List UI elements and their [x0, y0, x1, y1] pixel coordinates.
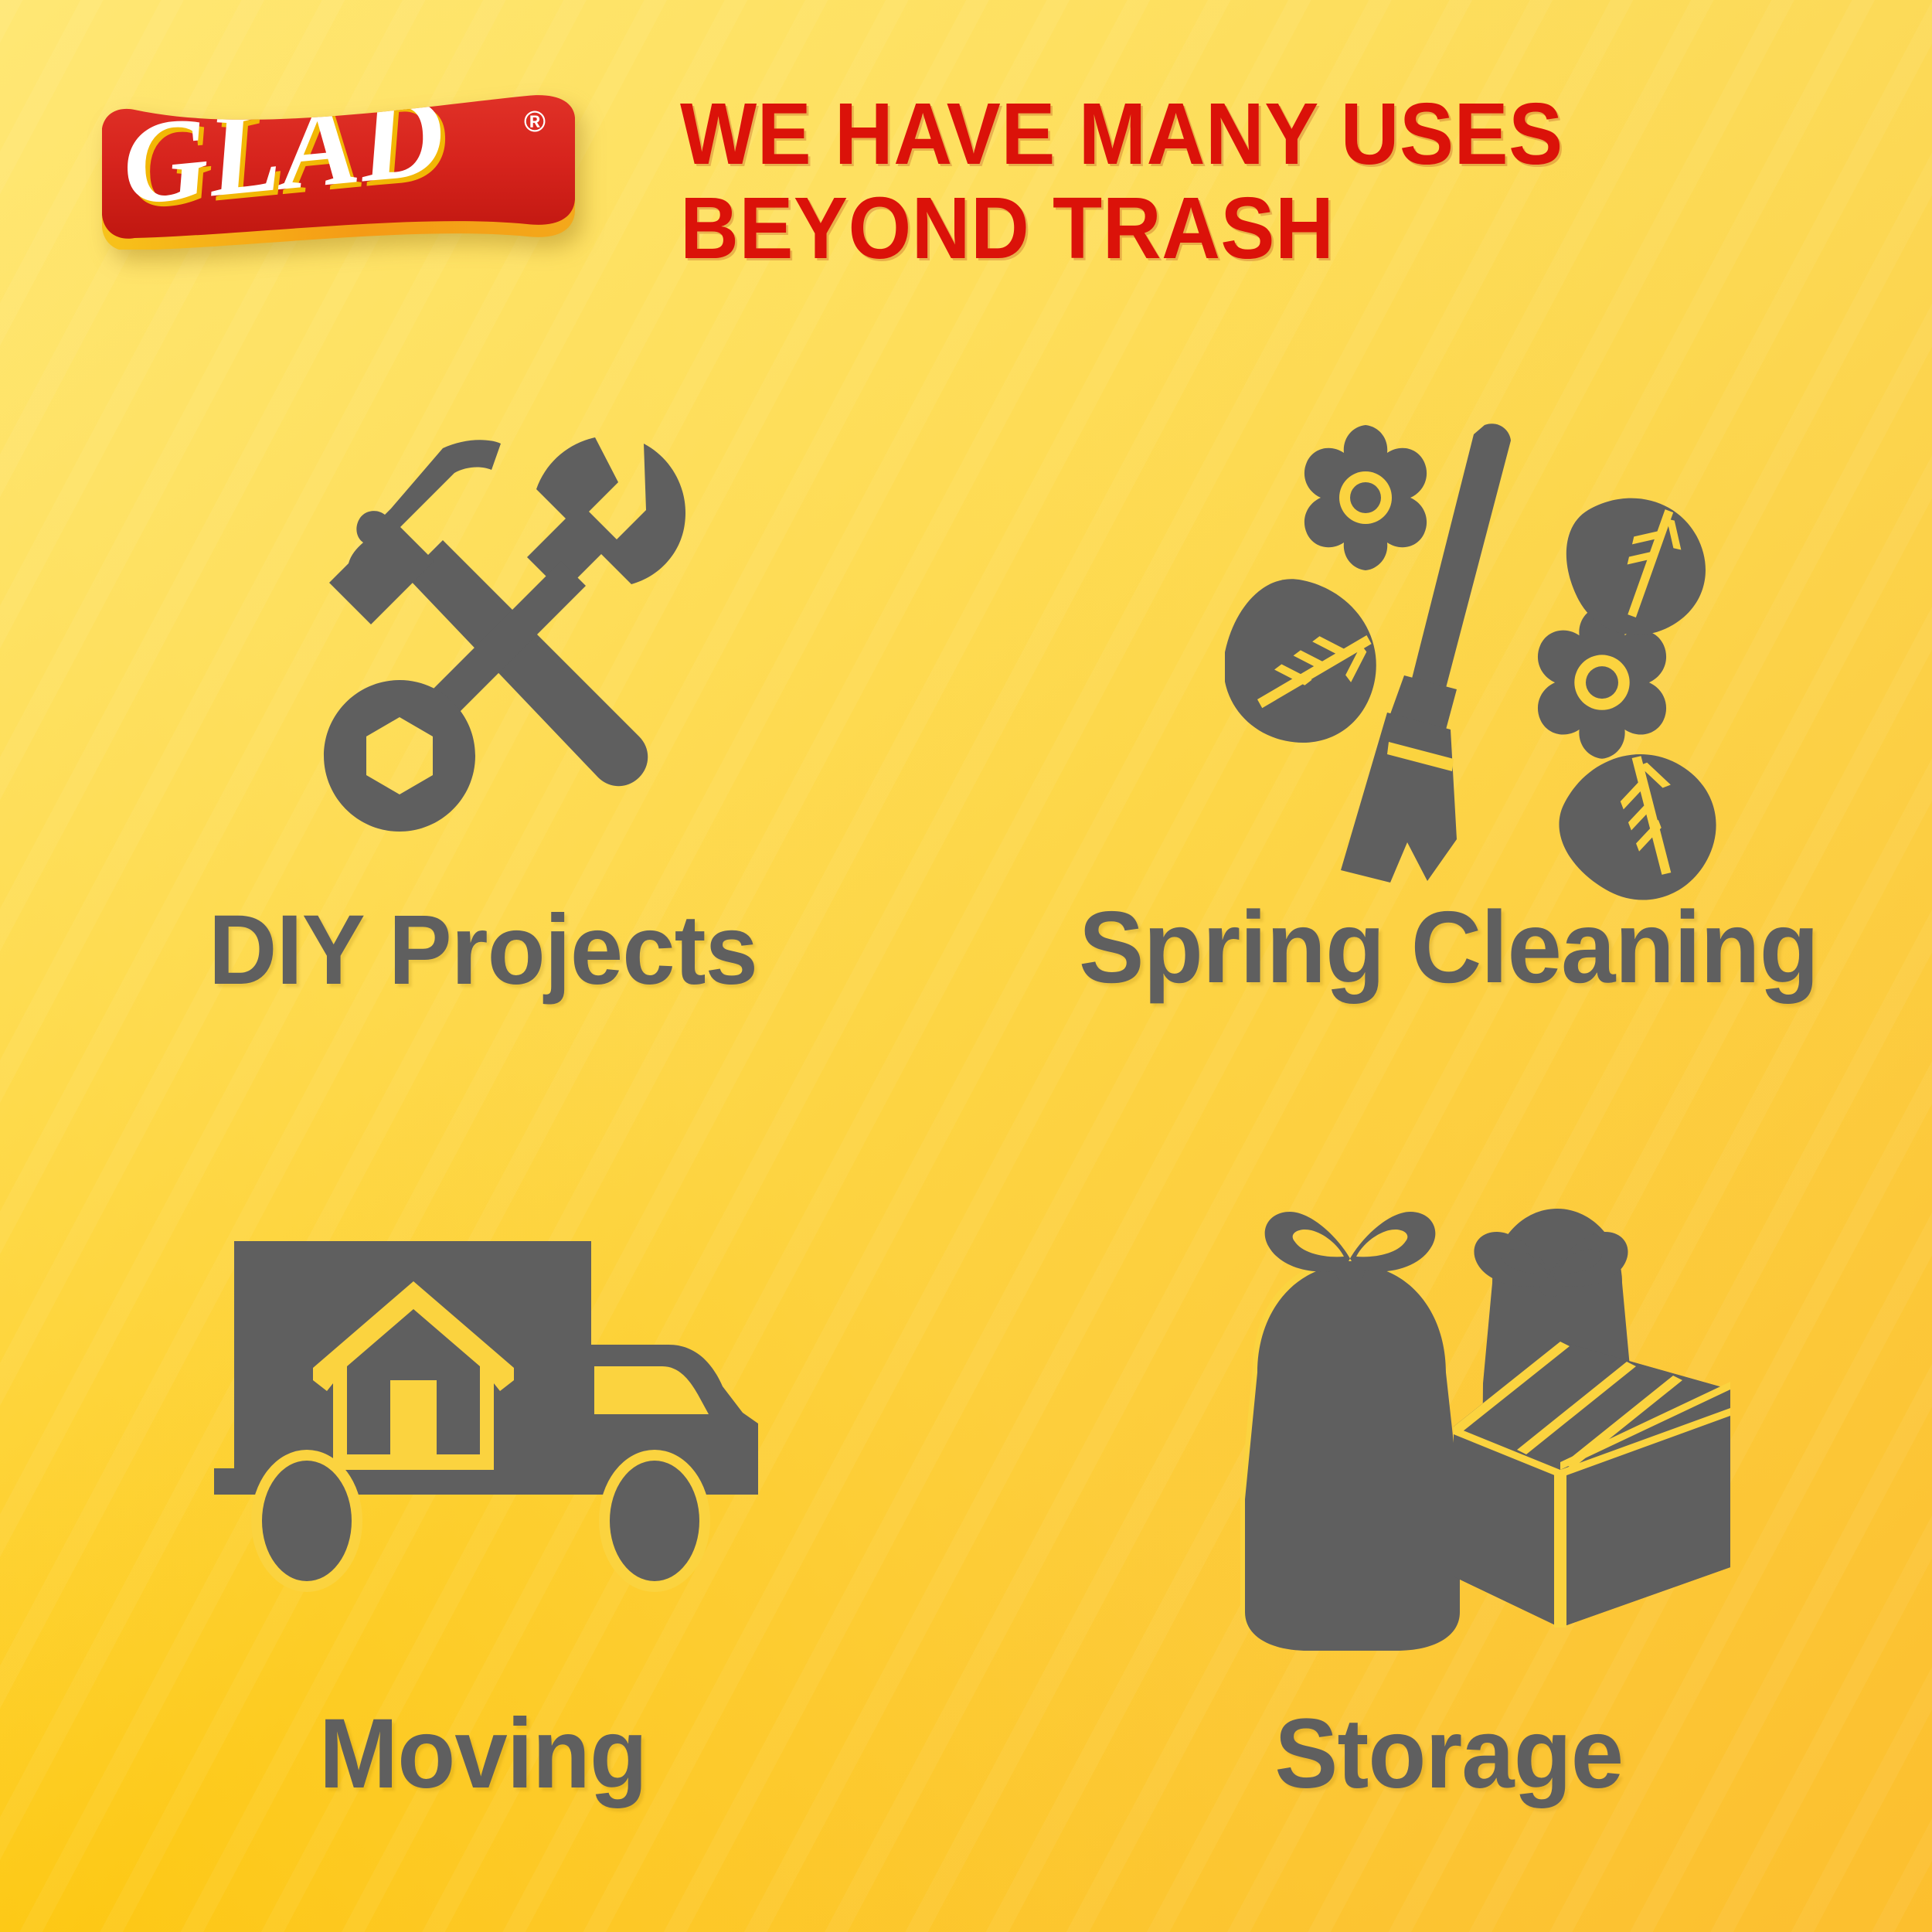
use-item-diy-projects: DIY Projects: [0, 386, 966, 1159]
use-label-spring-cleaning: Spring Cleaning: [1079, 896, 1818, 998]
use-item-moving: Moving: [0, 1159, 966, 1932]
flower-icon: [1304, 425, 1427, 570]
headline-line-2: BEYOND TRASH: [680, 181, 1801, 275]
glad-logo: GLAD GLAD ®: [94, 83, 581, 250]
glad-logo-banner: GLAD GLAD ®: [94, 83, 581, 250]
wheel-icon: [599, 1450, 710, 1592]
leaf-icon: [1551, 478, 1719, 652]
use-label-diy-projects: DIY Projects: [209, 901, 757, 1000]
use-label-moving: Moving: [319, 1705, 647, 1804]
use-item-spring-cleaning: Spring Cleaning: [966, 386, 1932, 1159]
use-item-storage: Storage: [966, 1159, 1932, 1932]
headline-line-1: WE HAVE MANY USES: [680, 87, 1801, 181]
headline: WE HAVE MANY USES BEYOND TRASH: [680, 87, 1801, 275]
registered-trademark-icon: ®: [524, 106, 546, 138]
poster: GLAD GLAD ® WE HAVE MANY USES BEYOND TRA…: [0, 0, 1932, 1932]
leaf-icon: [1225, 561, 1402, 765]
broom-with-flowers-and-leaves-icon: [943, 386, 1932, 927]
uses-grid: DIY Projects: [0, 386, 1932, 1932]
trash-bags-and-box-icon: [951, 1159, 1932, 1700]
hammer-and-wrench-icon: [0, 386, 970, 927]
tied-bag-icon: [1240, 1212, 1460, 1651]
moving-truck-with-house-icon: [0, 1159, 966, 1700]
use-label-storage: Storage: [1275, 1705, 1624, 1804]
leaf-icon: [1536, 722, 1719, 904]
header: GLAD GLAD ® WE HAVE MANY USES BEYOND TRA…: [0, 0, 1932, 363]
wheel-icon: [251, 1450, 362, 1592]
